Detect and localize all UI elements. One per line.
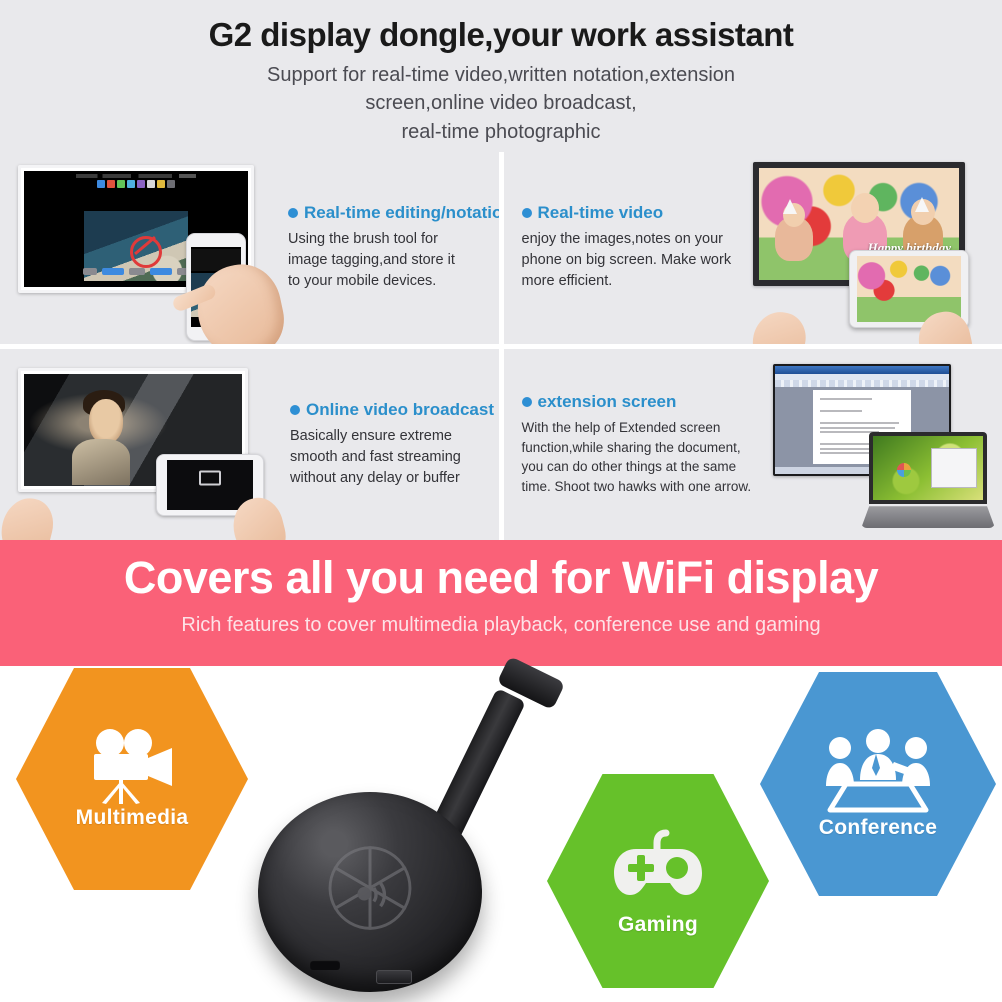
reset-button[interactable] <box>376 970 412 984</box>
bullet-icon <box>290 405 300 415</box>
feature-heading: Real-time video <box>522 203 732 223</box>
hex-gaming-label: Gaming <box>618 913 698 937</box>
hand-left <box>0 493 59 540</box>
feature-body: enjoy the images,notes on your phone on … <box>522 229 732 292</box>
feature-heading: extension screen <box>522 392 752 412</box>
hex-multimedia-label: Multimedia <box>76 806 189 830</box>
feature-heading-label: Online video broadcast <box>306 400 494 420</box>
meeting-people-icon <box>820 728 936 814</box>
feature-body-line: phone on big screen. Make work <box>522 250 732 271</box>
window-toolbar <box>775 380 949 387</box>
subtitle-line-2: screen,online video broadcast, <box>0 89 1002 117</box>
feature-body: Basically ensure extreme smooth and fast… <box>290 426 494 489</box>
screen-popup-window <box>931 448 977 488</box>
feature-heading: Real-time editing/notation <box>288 203 499 223</box>
feature-text: Online video broadcast Basically ensure … <box>278 396 499 493</box>
feature-body-line: without any delay or buffer <box>290 468 494 489</box>
feature-cell-online-video-broadcast: Online video broadcast Basically ensure … <box>0 349 499 541</box>
feature-body-line: Using the brush tool for <box>288 229 499 250</box>
feature-cell-real-time-editing: Real-time editing/notation Using the bru… <box>0 152 499 344</box>
feature-text: Real-time video enjoy the images,notes o… <box>504 199 744 296</box>
bullet-icon <box>522 397 532 407</box>
dongle-body <box>258 792 482 992</box>
feature-body-line: more efficient. <box>522 271 732 292</box>
character-face <box>89 399 123 443</box>
cast-icon <box>199 471 221 486</box>
feature-body-line: image tagging,and store it <box>288 250 499 271</box>
page-title: G2 display dongle,your work assistant <box>0 16 1002 54</box>
windows-logo-icon <box>897 463 911 477</box>
hand-left <box>748 307 811 344</box>
media-tv-annotation-photo <box>8 153 276 343</box>
feature-body: With the help of Extended screen functio… <box>522 418 752 496</box>
character-body <box>72 439 130 485</box>
hex-gaming[interactable]: Gaming <box>547 774 769 988</box>
micro-usb-port <box>310 960 340 970</box>
feature-heading-label: Real-time editing/notation <box>304 203 499 223</box>
feature-heading-label: extension screen <box>538 392 677 412</box>
gamepad-icon <box>606 825 710 911</box>
header-section: G2 display dongle,your work assistant Su… <box>0 0 1002 152</box>
movie-camera-icon <box>80 728 184 804</box>
feature-body-line: you can do other things at the same <box>522 457 752 477</box>
feature-heading-label: Real-time video <box>538 203 664 223</box>
feature-body-line: smooth and fast streaming <box>290 447 494 468</box>
feature-body-line: With the help of Extended screen <box>522 418 752 438</box>
laptop-device <box>861 432 995 528</box>
window-titlebar <box>775 366 949 374</box>
annotation-mark <box>134 236 156 255</box>
subtitle-line-1: Support for real-time video,written nota… <box>0 61 1002 89</box>
editor-toolbar <box>24 175 248 193</box>
feature-body-line: time. Shoot two hawks with one arrow. <box>522 477 752 497</box>
feature-text: extension screen With the help of Extend… <box>504 388 764 500</box>
hex-multimedia[interactable]: Multimedia <box>16 668 248 890</box>
laptop-screen <box>873 436 983 500</box>
media-tv-birthday-party: Happy birthday 2016.12.24 <box>745 152 975 344</box>
feature-body-line: enjoy the images,notes on your <box>522 229 732 250</box>
feature-body-line: to your mobile devices. <box>288 271 499 292</box>
banner-subtitle: Rich features to cover multimedia playba… <box>0 614 1002 637</box>
use-case-section: Multimedia <box>0 666 1002 1002</box>
feature-text: Real-time editing/notation Using the bru… <box>276 199 499 296</box>
feature-heading: Online video broadcast <box>290 400 494 420</box>
party-hat <box>915 197 929 212</box>
feature-body-line: Basically ensure extreme <box>290 426 494 447</box>
bullet-icon <box>522 208 532 218</box>
bullet-icon <box>288 208 298 218</box>
hex-conference-label: Conference <box>819 816 938 840</box>
party-hat <box>783 199 797 214</box>
child-head <box>851 193 879 223</box>
feature-cell-real-time-video: Real-time video enjoy the images,notes o… <box>504 152 1002 344</box>
laptop-lid <box>869 432 987 504</box>
laptop-base-keyboard <box>861 506 995 528</box>
banner-title: Covers all you need for WiFi display <box>0 552 1002 604</box>
feature-cell-extension-screen: extension screen With the help of Extend… <box>504 349 1002 541</box>
promo-banner: Covers all you need for WiFi display Ric… <box>0 540 1002 666</box>
media-tv-movie-streaming <box>8 358 278 530</box>
feature-body: Using the brush tool for image tagging,a… <box>288 229 499 292</box>
feature-body-line: function,while sharing the document, <box>522 438 752 458</box>
page-subtitle: Support for real-time video,written nota… <box>0 61 1002 146</box>
product-photo-dongle <box>236 662 572 1002</box>
editor-controls <box>83 268 189 275</box>
feature-grid: Real-time editing/notation Using the bru… <box>0 152 1002 540</box>
aperture-wifi-icon <box>322 840 418 936</box>
child-left <box>775 217 813 261</box>
media-monitor-document-laptop <box>765 356 997 532</box>
subtitle-line-3: real-time photographic <box>0 118 1002 146</box>
hex-conference[interactable]: Conference <box>760 672 996 896</box>
